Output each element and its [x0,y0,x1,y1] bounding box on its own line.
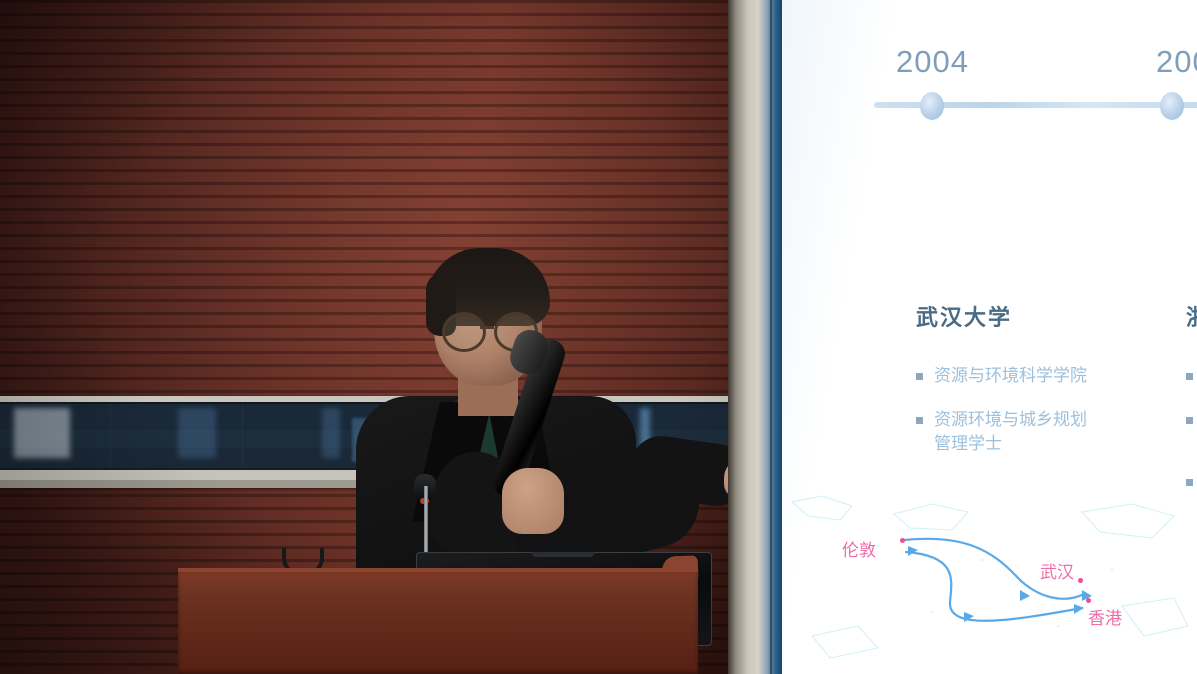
bullet-item: 资源与环境科学学院 [916,364,1178,388]
wall-divider [728,0,782,674]
lecture-photo [0,0,752,674]
map-label-london: 伦敦 [842,536,876,561]
timeline-year-2008: 2008 [1156,44,1197,80]
map-city-dot-hongkong [1086,598,1091,603]
map-label-wuhan: 武汉 [1040,558,1074,583]
bullet-item: 资 [1186,364,1197,388]
column-heading-second: 浙 [1186,300,1197,332]
bullet-marker-icon [1186,479,1193,486]
bullet-label: 资源与环境科学学院 [934,364,1087,388]
laptop-hinge [532,552,594,557]
bullet-marker-icon [916,373,923,380]
projected-slide: 2004 2008 WUHAN UNIVERSITY 自强弘毅 [782,0,1197,674]
bullet-item: 资源环境与城乡规划 管理学士 [916,408,1178,456]
timeline-node-2008 [1160,92,1184,120]
screenshot-root: 2004 2008 WUHAN UNIVERSITY 自强弘毅 [0,0,1197,674]
bullet-label: 资源环境与城乡规划 管理学士 [934,408,1087,456]
map-city-dot-london [900,538,905,543]
bullet-marker-icon [916,417,923,424]
speaker-hand-holding-mic [502,468,564,534]
divider-seam-line [770,0,772,674]
bullet-marker-icon [1186,417,1193,424]
eyeglasses-bridge [480,326,494,329]
bullet-item: 环 [1186,408,1197,432]
timeline-year-2004: 2004 [896,44,969,80]
timeline-node-2004 [920,92,944,120]
column-heading-wuhan: 武汉大学 [916,300,1012,332]
map-city-dot-wuhan [1078,578,1083,583]
eyeglasses-lens-left [442,312,486,352]
world-map-routes [782,486,1197,674]
podium [178,572,698,674]
bullet-marker-icon [1186,373,1193,380]
map-label-hongkong: 香港 [1088,604,1122,629]
